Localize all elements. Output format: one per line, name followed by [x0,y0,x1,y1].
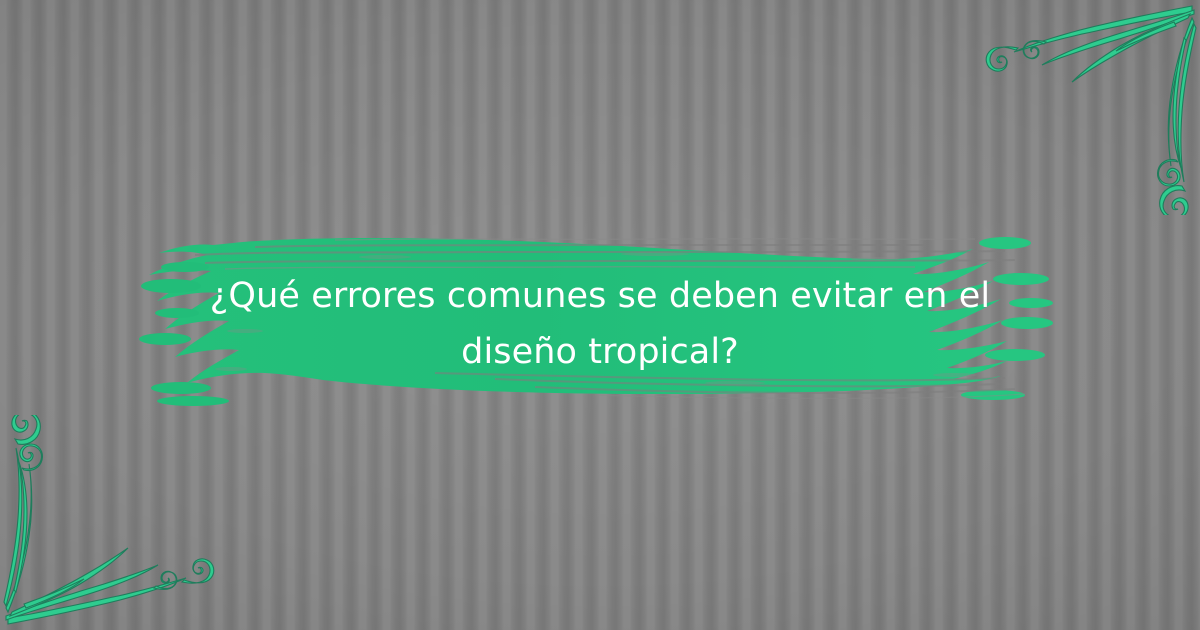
poster-canvas: ¿Qué errores comunes se deben evitar en … [0,0,1200,630]
page-title: ¿Qué errores comunes se deben evitar en … [150,268,1050,380]
corner-flourish-ornament-bottom-left [0,415,230,630]
